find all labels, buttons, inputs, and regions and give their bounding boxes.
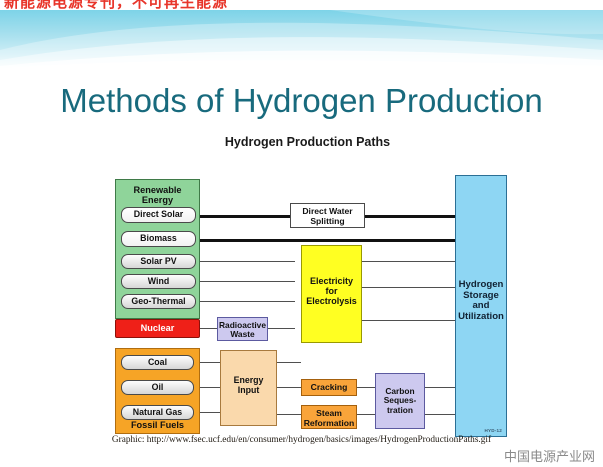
wire-steam-to-carbon [357, 414, 375, 415]
node-geo-thermal[interactable]: Geo-Thermal [121, 294, 196, 309]
diagram-corner-code: HYD-12 [484, 428, 502, 433]
node-oil[interactable]: Oil [121, 380, 194, 395]
node-cracking[interactable]: Cracking [301, 379, 357, 396]
node-direct-solar[interactable]: Direct Solar [121, 207, 196, 223]
node-natural-gas[interactable]: Natural Gas [121, 405, 194, 420]
node-carbon-sequestration[interactable]: Carbon Seques- tration [375, 373, 425, 429]
node-direct-water-splitting[interactable]: Direct Water Splitting [290, 203, 365, 228]
wire-energy-input-to-cracking [277, 387, 301, 388]
wire-wind-to-electrolysis [195, 281, 295, 282]
wire-waste-to-electrolysis [268, 328, 295, 329]
wire-energy-input-to-steam [277, 414, 301, 415]
node-coal[interactable]: Coal [121, 355, 194, 370]
wire-electrolysis-out-2 [362, 287, 455, 288]
slide-screenshot: 新能源电源专刊，不可再生能源 Methods of Hydrogen Produ… [0, 0, 603, 467]
decorative-wave-banner [0, 10, 603, 72]
node-solar-pv[interactable]: Solar PV [121, 254, 196, 269]
node-radioactive-waste[interactable]: Radioactive Waste [217, 317, 268, 341]
wire-electrolysis-out-3 [362, 320, 455, 321]
node-steam-reformation[interactable]: Steam Reformation [301, 405, 357, 429]
wire-solar-pv-to-electrolysis [195, 261, 295, 262]
wire-splitting-to-storage [365, 215, 455, 218]
node-biomass[interactable]: Biomass [121, 231, 196, 247]
slide-body: Methods of Hydrogen Production Hydrogen … [0, 10, 603, 457]
node-electricity-for-electrolysis[interactable]: Electricity for Electrolysis [301, 245, 362, 343]
diagram-source-caption: Graphic: http://www.fsec.ucf.edu/en/cons… [0, 435, 603, 445]
wire-energy-input-to-electrolysis [277, 362, 301, 363]
wire-cracking-to-carbon [357, 387, 375, 388]
fossil-fuels-label: Fossil Fuels [116, 420, 199, 430]
page-title: Methods of Hydrogen Production [0, 82, 603, 120]
node-energy-input[interactable]: Energy Input [220, 350, 277, 426]
node-wind[interactable]: Wind [121, 274, 196, 289]
wire-carbon-to-storage-1 [425, 387, 455, 388]
cutoff-header-text: 新能源电源专刊，不可再生能源 [4, 0, 228, 10]
wire-biomass-to-storage [195, 239, 455, 242]
wire-carbon-to-storage-2 [425, 414, 455, 415]
cutoff-header-strip: 新能源电源专刊，不可再生能源 [0, 0, 603, 10]
site-watermark: 中国电源产业网 [504, 446, 595, 465]
node-nuclear[interactable]: Nuclear [115, 319, 200, 338]
hydrogen-production-diagram: Hydrogen Production Paths [95, 135, 520, 450]
wire-geothermal-to-electrolysis [195, 301, 295, 302]
wire-direct-solar-to-splitting [195, 215, 290, 218]
wave-graphic [0, 10, 603, 72]
wire-electrolysis-out-1 [362, 261, 455, 262]
renewable-energy-label: Renewable Energy [116, 185, 199, 206]
node-hydrogen-storage-and-utilization[interactable]: Hydrogen Storage and Utilization HYD-12 [455, 175, 507, 437]
diagram-title: Hydrogen Production Paths [95, 135, 520, 149]
